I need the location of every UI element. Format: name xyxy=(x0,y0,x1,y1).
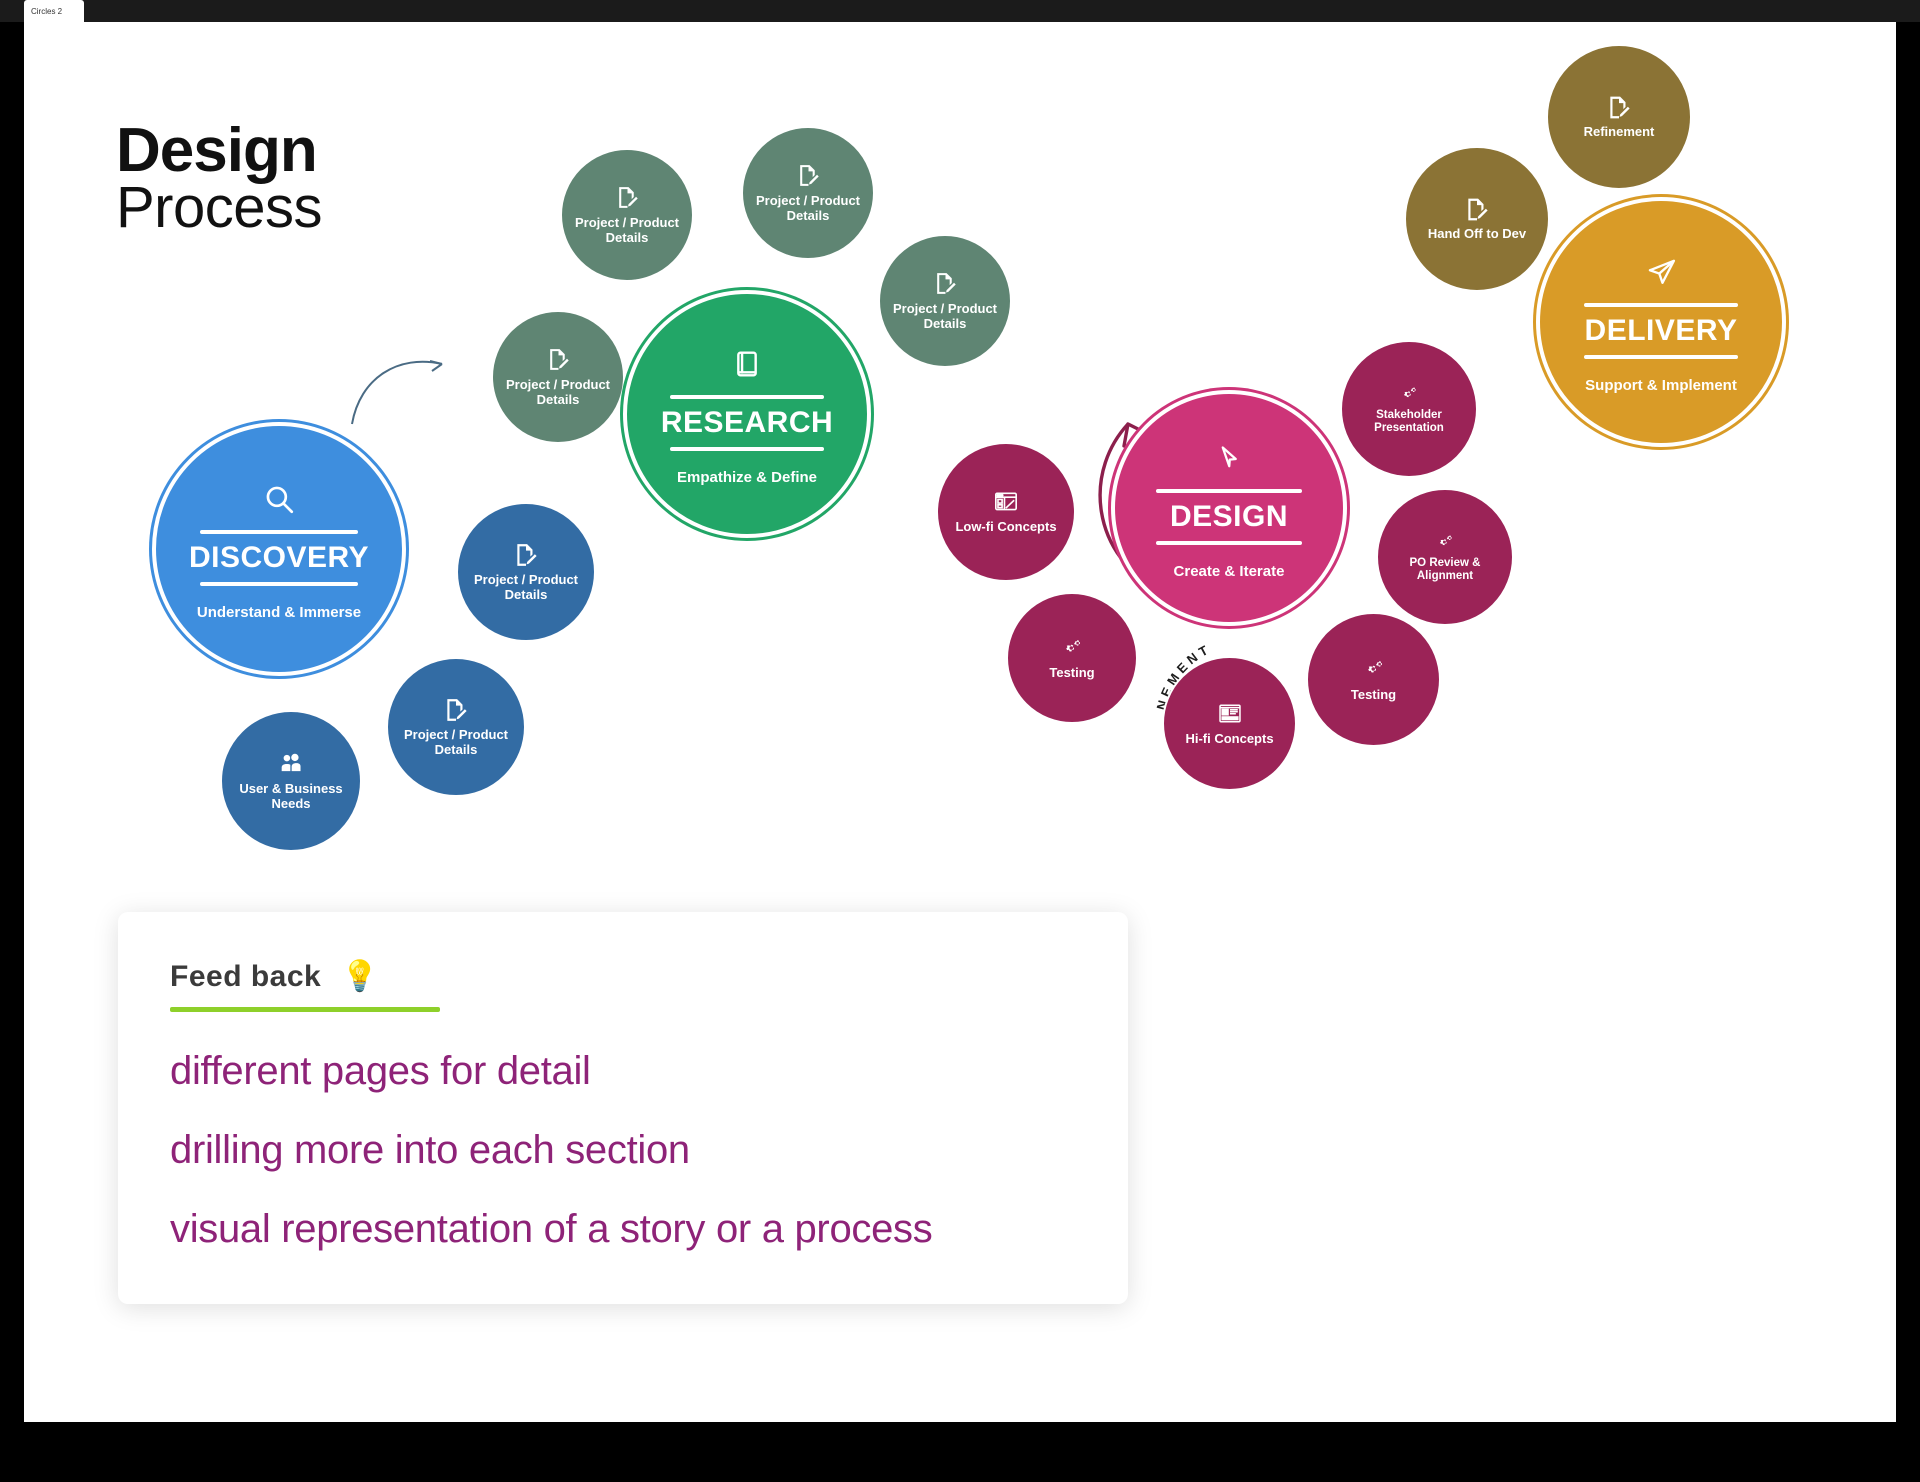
wireframe-icon xyxy=(993,489,1019,515)
satellite-label: Project / Product Details xyxy=(562,216,692,245)
satellite-label: Project / Product Details xyxy=(743,194,873,223)
phase-subtitle: Empathize & Define xyxy=(677,470,817,485)
phase-subtitle: Understand & Immerse xyxy=(197,605,361,620)
document-pencil-icon xyxy=(1464,196,1490,222)
document-pencil-icon xyxy=(545,347,571,373)
page-title: Design Process xyxy=(116,122,322,234)
paper-plane-icon xyxy=(1641,252,1681,292)
gears-icon xyxy=(1434,531,1456,553)
satellite-label: Hand Off to Dev xyxy=(1420,227,1534,242)
phase-node-design[interactable]: DESIGN Create & Iterate xyxy=(1111,390,1347,626)
magnifier-icon xyxy=(259,479,299,519)
document-pencil-icon xyxy=(932,271,958,297)
slide-canvas[interactable]: Design Process Project / Product Details xyxy=(24,22,1896,1422)
document-pencil-icon xyxy=(443,697,469,723)
app-chrome-bar: Circles 2 xyxy=(0,0,1920,22)
phase-title: DISCOVERY xyxy=(189,543,369,573)
screen-root: Circles 2 Design Process Project / Produ… xyxy=(0,0,1920,1482)
divider xyxy=(200,582,357,586)
gears-icon xyxy=(1361,657,1387,683)
satellite-label: Project / Product Details xyxy=(493,378,623,407)
phase-subtitle: Support & Implement xyxy=(1585,378,1737,393)
satellite-label: Project / Product Details xyxy=(388,728,524,757)
phase-subtitle: Create & Iterate xyxy=(1174,564,1285,579)
divider xyxy=(1156,489,1302,493)
satellite-design-hi-fi-concepts[interactable]: Hi-fi Concepts xyxy=(1162,656,1297,791)
list-item: visual representation of a story or a pr… xyxy=(170,1208,1090,1250)
feedback-underline xyxy=(170,1007,440,1012)
divider xyxy=(670,447,824,451)
document-pencil-icon xyxy=(1606,94,1632,120)
divider xyxy=(1584,303,1739,307)
phase-node-delivery[interactable]: DELIVERY Support & Implement xyxy=(1536,197,1786,447)
satellite-label: Project / Product Details xyxy=(880,302,1010,331)
satellite-label: User & Business Needs xyxy=(222,782,360,811)
document-pencil-icon xyxy=(795,163,821,189)
phase-title: RESEARCH xyxy=(661,408,833,438)
satellite-label: Testing xyxy=(1343,688,1404,703)
people-icon xyxy=(278,751,304,777)
phase-title: DESIGN xyxy=(1170,502,1288,532)
satellite-label: Hi-fi Concepts xyxy=(1177,732,1281,747)
satellite-label: Testing xyxy=(1041,666,1102,681)
browser-tab[interactable]: Circles 2 xyxy=(24,0,84,22)
phase-title: DELIVERY xyxy=(1585,316,1738,346)
phase-node-research[interactable]: RESEARCH Empathize & Define xyxy=(623,290,871,538)
satellite-label: Refinement xyxy=(1576,125,1663,140)
divider xyxy=(200,530,357,534)
divider xyxy=(1156,541,1302,545)
flow-arrow-discovery-research xyxy=(346,342,466,432)
cursor-icon xyxy=(1209,438,1249,478)
divider xyxy=(1584,355,1739,359)
title-line-1: Design xyxy=(116,122,322,179)
satellite-discovery-user-business-needs[interactable]: User & Business Needs xyxy=(220,710,362,852)
satellite-research-project-details-1[interactable]: Project / Product Details xyxy=(560,148,694,282)
layout-icon xyxy=(1217,701,1243,727)
satellite-research-project-details-4[interactable]: Project / Product Details xyxy=(491,310,625,444)
satellite-label: Low-fi Concepts xyxy=(947,520,1064,535)
feedback-card: Feed back 💡 different pages for detail d… xyxy=(118,912,1128,1304)
satellite-design-po-review-alignment[interactable]: PO Review & Alignment xyxy=(1376,488,1514,626)
satellite-research-project-details-3[interactable]: Project / Product Details xyxy=(878,234,1012,368)
gears-icon xyxy=(1398,383,1420,405)
feedback-list: different pages for detail drilling more… xyxy=(170,1050,1090,1287)
satellite-label: PO Review & Alignment xyxy=(1378,557,1512,583)
satellite-design-stakeholder-presentation[interactable]: Stakeholder Presentation xyxy=(1340,340,1478,478)
satellite-design-testing-right[interactable]: Testing xyxy=(1306,612,1441,747)
list-item: drilling more into each section xyxy=(170,1129,1090,1171)
satellite-discovery-project-details-1[interactable]: Project / Product Details xyxy=(456,502,596,642)
phase-node-discovery[interactable]: DISCOVERY Understand & Immerse xyxy=(152,422,406,676)
document-pencil-icon xyxy=(614,185,640,211)
satellite-label: Stakeholder Presentation xyxy=(1342,409,1476,435)
slide-content-area: Design Process Project / Product Details xyxy=(56,22,1864,1422)
browser-tab-label: Circles 2 xyxy=(31,7,62,16)
lightbulb-icon: 💡 xyxy=(341,962,378,992)
satellite-label: Project / Product Details xyxy=(458,573,594,602)
satellite-delivery-hand-off-to-dev[interactable]: Hand Off to Dev xyxy=(1404,146,1550,292)
satellite-discovery-project-details-2[interactable]: Project / Product Details xyxy=(386,657,526,797)
list-item: different pages for detail xyxy=(170,1050,1090,1092)
divider xyxy=(670,395,824,399)
feedback-header: Feed back 💡 xyxy=(170,960,379,994)
satellite-design-low-fi-concepts[interactable]: Low-fi Concepts xyxy=(936,442,1076,582)
gears-icon xyxy=(1059,635,1085,661)
satellite-design-testing-left[interactable]: Testing xyxy=(1006,592,1138,724)
document-pencil-icon xyxy=(513,542,539,568)
satellite-delivery-refinement[interactable]: Refinement xyxy=(1546,44,1692,190)
book-icon xyxy=(727,344,767,384)
title-line-2: Process xyxy=(116,181,322,234)
satellite-research-project-details-2[interactable]: Project / Product Details xyxy=(741,126,875,260)
feedback-title: Feed back xyxy=(170,960,321,994)
